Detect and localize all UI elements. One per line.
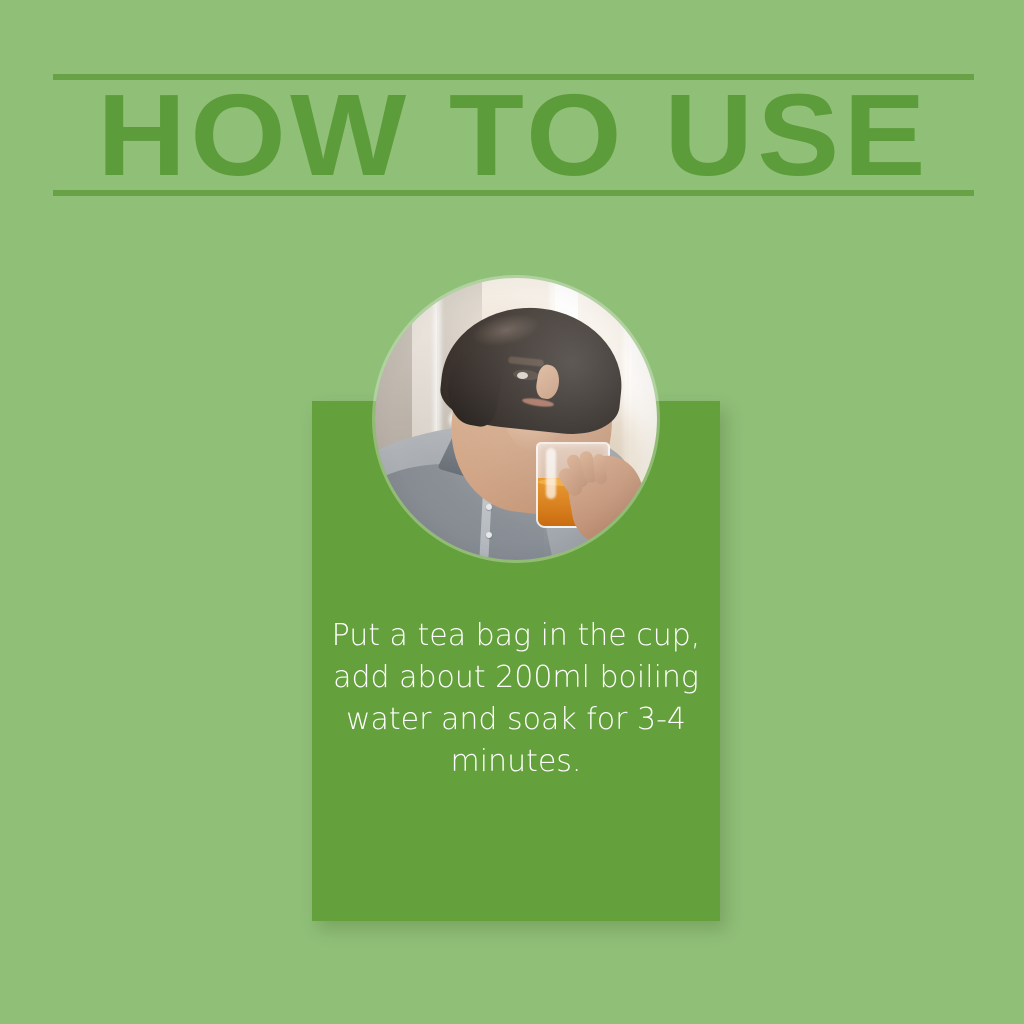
how-to-use-poster: HOW TO USE Put a tea bag in the cup, add…: [0, 0, 1024, 1024]
page-title: HOW TO USE: [25, 80, 1001, 190]
eye-highlight: [517, 372, 528, 379]
product-usage-photo: [375, 278, 657, 560]
header: HOW TO USE: [53, 74, 974, 196]
title-rule-bottom: [53, 190, 974, 196]
glass-highlight: [546, 448, 556, 499]
photo-scene: [375, 278, 657, 560]
instruction-text: Put a tea bag in the cup, add about 200m…: [328, 615, 704, 783]
